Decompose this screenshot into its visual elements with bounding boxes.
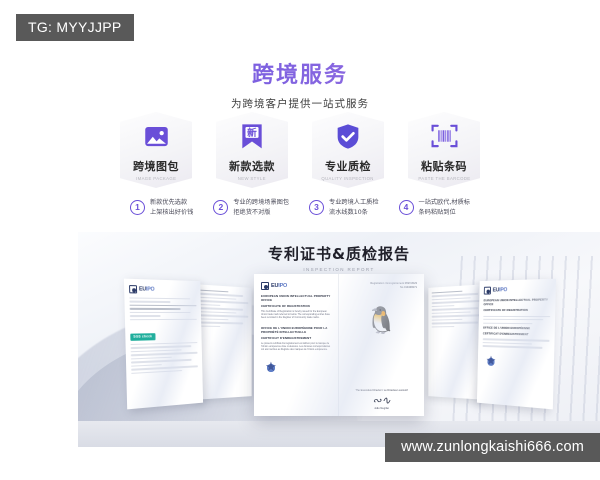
eu-stars-emblem-icon: [482, 352, 500, 372]
bullet-number: 1: [130, 200, 145, 215]
bullet-number: 4: [399, 200, 414, 215]
signature-mark-icon: ∾∿: [345, 395, 418, 406]
bullet-line-2: 上架核出好价钱: [150, 208, 193, 218]
euipo-mark-icon: [129, 285, 137, 293]
bullet-number: 2: [213, 200, 228, 215]
certificate-heading-en: EUROPEAN UNION INTELLECTUAL PROPERTY OFF…: [261, 294, 331, 302]
feature-label-cn: 跨境图包: [133, 158, 179, 174]
bullet-text: 新款优先选款 上架核出好价钱: [150, 198, 193, 217]
bullet-line-1: 专业的跨境场景图包: [233, 198, 289, 208]
certificate-heading-fr: OFFICE DE L'UNION EUROPÉENNE POUR LA PRO…: [261, 326, 331, 334]
new-style-ribbon-icon: 新: [240, 121, 264, 151]
euipo-wordmark: EUIPO: [493, 287, 508, 293]
website-url-badge[interactable]: www.zunlongkaishi666.com: [385, 433, 600, 462]
euipo-logo: EUIPO: [129, 285, 196, 295]
svg-text:新: 新: [247, 126, 257, 138]
bullet-line-1: 专业跨境人工质检: [329, 198, 379, 208]
certificate-body-en: This Certificate of Registration is here…: [261, 311, 331, 321]
eu-stars-emblem-icon: [261, 358, 281, 378]
feature-label-en: PASTE THE BARCODE: [418, 176, 470, 181]
euipo-mark-icon: [261, 282, 269, 290]
signature-title: The Executive Director / Le Directeur ex…: [345, 389, 418, 393]
bullet-text: 专业的跨境场景图包 拒绝货不对版: [233, 198, 289, 217]
certificate-title-fr: CERTIFICAT D'ENREGISTREMENT: [261, 336, 331, 340]
feature-label-en: IMAGE PACKAGE: [136, 176, 176, 181]
feature-label-cn: 新款选款: [229, 158, 275, 174]
certificate-document-left[interactable]: EUIPO SGS check: [124, 279, 203, 410]
page-title: 跨境服务: [0, 57, 600, 89]
ram-emblem-icon: 🐧: [361, 304, 403, 338]
euipo-wordmark: EUIPO: [139, 286, 155, 292]
euipo-logo: EUIPO: [261, 282, 331, 290]
feature-label-en: NEW STYLE: [238, 176, 266, 181]
bullet-item: 2 专业的跨境场景图包 拒绝货不对版: [213, 198, 289, 217]
certificate-document-center[interactable]: EUIPO EUROPEAN UNION INTELLECTUAL PROPER…: [254, 274, 424, 416]
page-subtitle: 为跨境客户提供一站式服务: [0, 96, 600, 111]
image-package-icon: [143, 121, 170, 151]
bullet-line-1: 一站式欧代,材质标: [419, 198, 470, 208]
application-number-line: No 019438271: [346, 286, 417, 290]
euipo-mark-icon: [484, 287, 491, 295]
certificate-showcase-panel: 专利证书&质检报告 INSPECTION REPORT EUIPO SGS ch…: [78, 232, 600, 447]
bullet-item: 4 一站式欧代,材质标 条码粘贴到位: [399, 198, 470, 217]
panel-subtitle: INSPECTION REPORT: [78, 267, 600, 272]
quality-shield-icon: [335, 121, 361, 151]
benefit-bullet-list: 1 新款优先选款 上架核出好价钱 2 专业的跨境场景图包 拒绝货不对版 3 专业…: [0, 198, 600, 217]
feature-label-en: QUALITY INSPECTION: [322, 176, 374, 181]
panel-title: 专利证书&质检报告: [78, 243, 600, 264]
bullet-line-2: 流水线数10条: [329, 208, 379, 218]
bullet-line-2: 条码粘贴到位: [419, 208, 470, 218]
signature-block: The Executive Director / Le Directeur ex…: [345, 389, 418, 410]
euipo-wordmark: EUIPO: [271, 283, 287, 289]
feature-card-paste-barcode[interactable]: 粘贴条码 PASTE THE BARCODE: [408, 112, 480, 188]
euipo-logo: EUIPO: [484, 285, 551, 295]
signature-name: João Negrão: [345, 407, 418, 410]
bullet-item: 1 新款优先选款 上架核出好价钱: [130, 198, 193, 217]
panel-header: 专利证书&质检报告 INSPECTION REPORT: [78, 243, 600, 272]
feature-label-cn: 专业质检: [325, 158, 371, 174]
bullet-number: 3: [309, 200, 324, 215]
certificate-right-page: Registration / Enregistrement 0697/2023 …: [339, 274, 424, 416]
document-subheading-fr: CERTIFICAT D'ENREGISTREMENT: [483, 332, 550, 338]
document-subheading-en: CERTIFICATE OF REGISTRATION: [483, 308, 550, 312]
feature-card-list: 跨境图包 IMAGE PACKAGE 新 新款选款 NEW STYLE 专业质检…: [0, 112, 600, 188]
telegram-watermark-badge: TG: MYYJJPP: [16, 14, 134, 41]
certificate-document-right[interactable]: EUIPO EUROPEAN UNION INTELLECTUAL PROPER…: [477, 279, 556, 410]
certificate-body-fr: Le présent certificat d'enregistrement e…: [261, 343, 331, 353]
page-header: 跨境服务 为跨境客户提供一站式服务: [0, 57, 600, 111]
certificate-left-page: EUIPO EUROPEAN UNION INTELLECTUAL PROPER…: [254, 274, 339, 416]
bullet-line-2: 拒绝货不对版: [233, 208, 289, 218]
bullet-item: 3 专业跨境人工质检 流水线数10条: [309, 198, 379, 217]
bullet-text: 一站式欧代,材质标 条码粘贴到位: [419, 198, 470, 217]
document-heading-en: EUROPEAN UNION INTELLECTUAL PROPERTY OFF…: [484, 297, 551, 306]
feature-card-image-package[interactable]: 跨境图包 IMAGE PACKAGE: [120, 112, 192, 188]
document-heading-fr: OFFICE DE L'UNION EUROPÉENNE: [483, 326, 550, 331]
bullet-text: 专业跨境人工质检 流水线数10条: [329, 198, 379, 217]
feature-card-quality-inspection[interactable]: 专业质检 QUALITY INSPECTION: [312, 112, 384, 188]
inspection-partner-logo: SGS check: [130, 333, 155, 341]
certificate-title-en: CERTIFICATE OF REGISTRATION: [261, 304, 331, 308]
bullet-line-1: 新款优先选款: [150, 198, 193, 208]
barcode-scan-icon: [431, 121, 458, 151]
feature-card-new-style[interactable]: 新 新款选款 NEW STYLE: [216, 112, 288, 188]
feature-label-cn: 粘贴条码: [421, 158, 467, 174]
